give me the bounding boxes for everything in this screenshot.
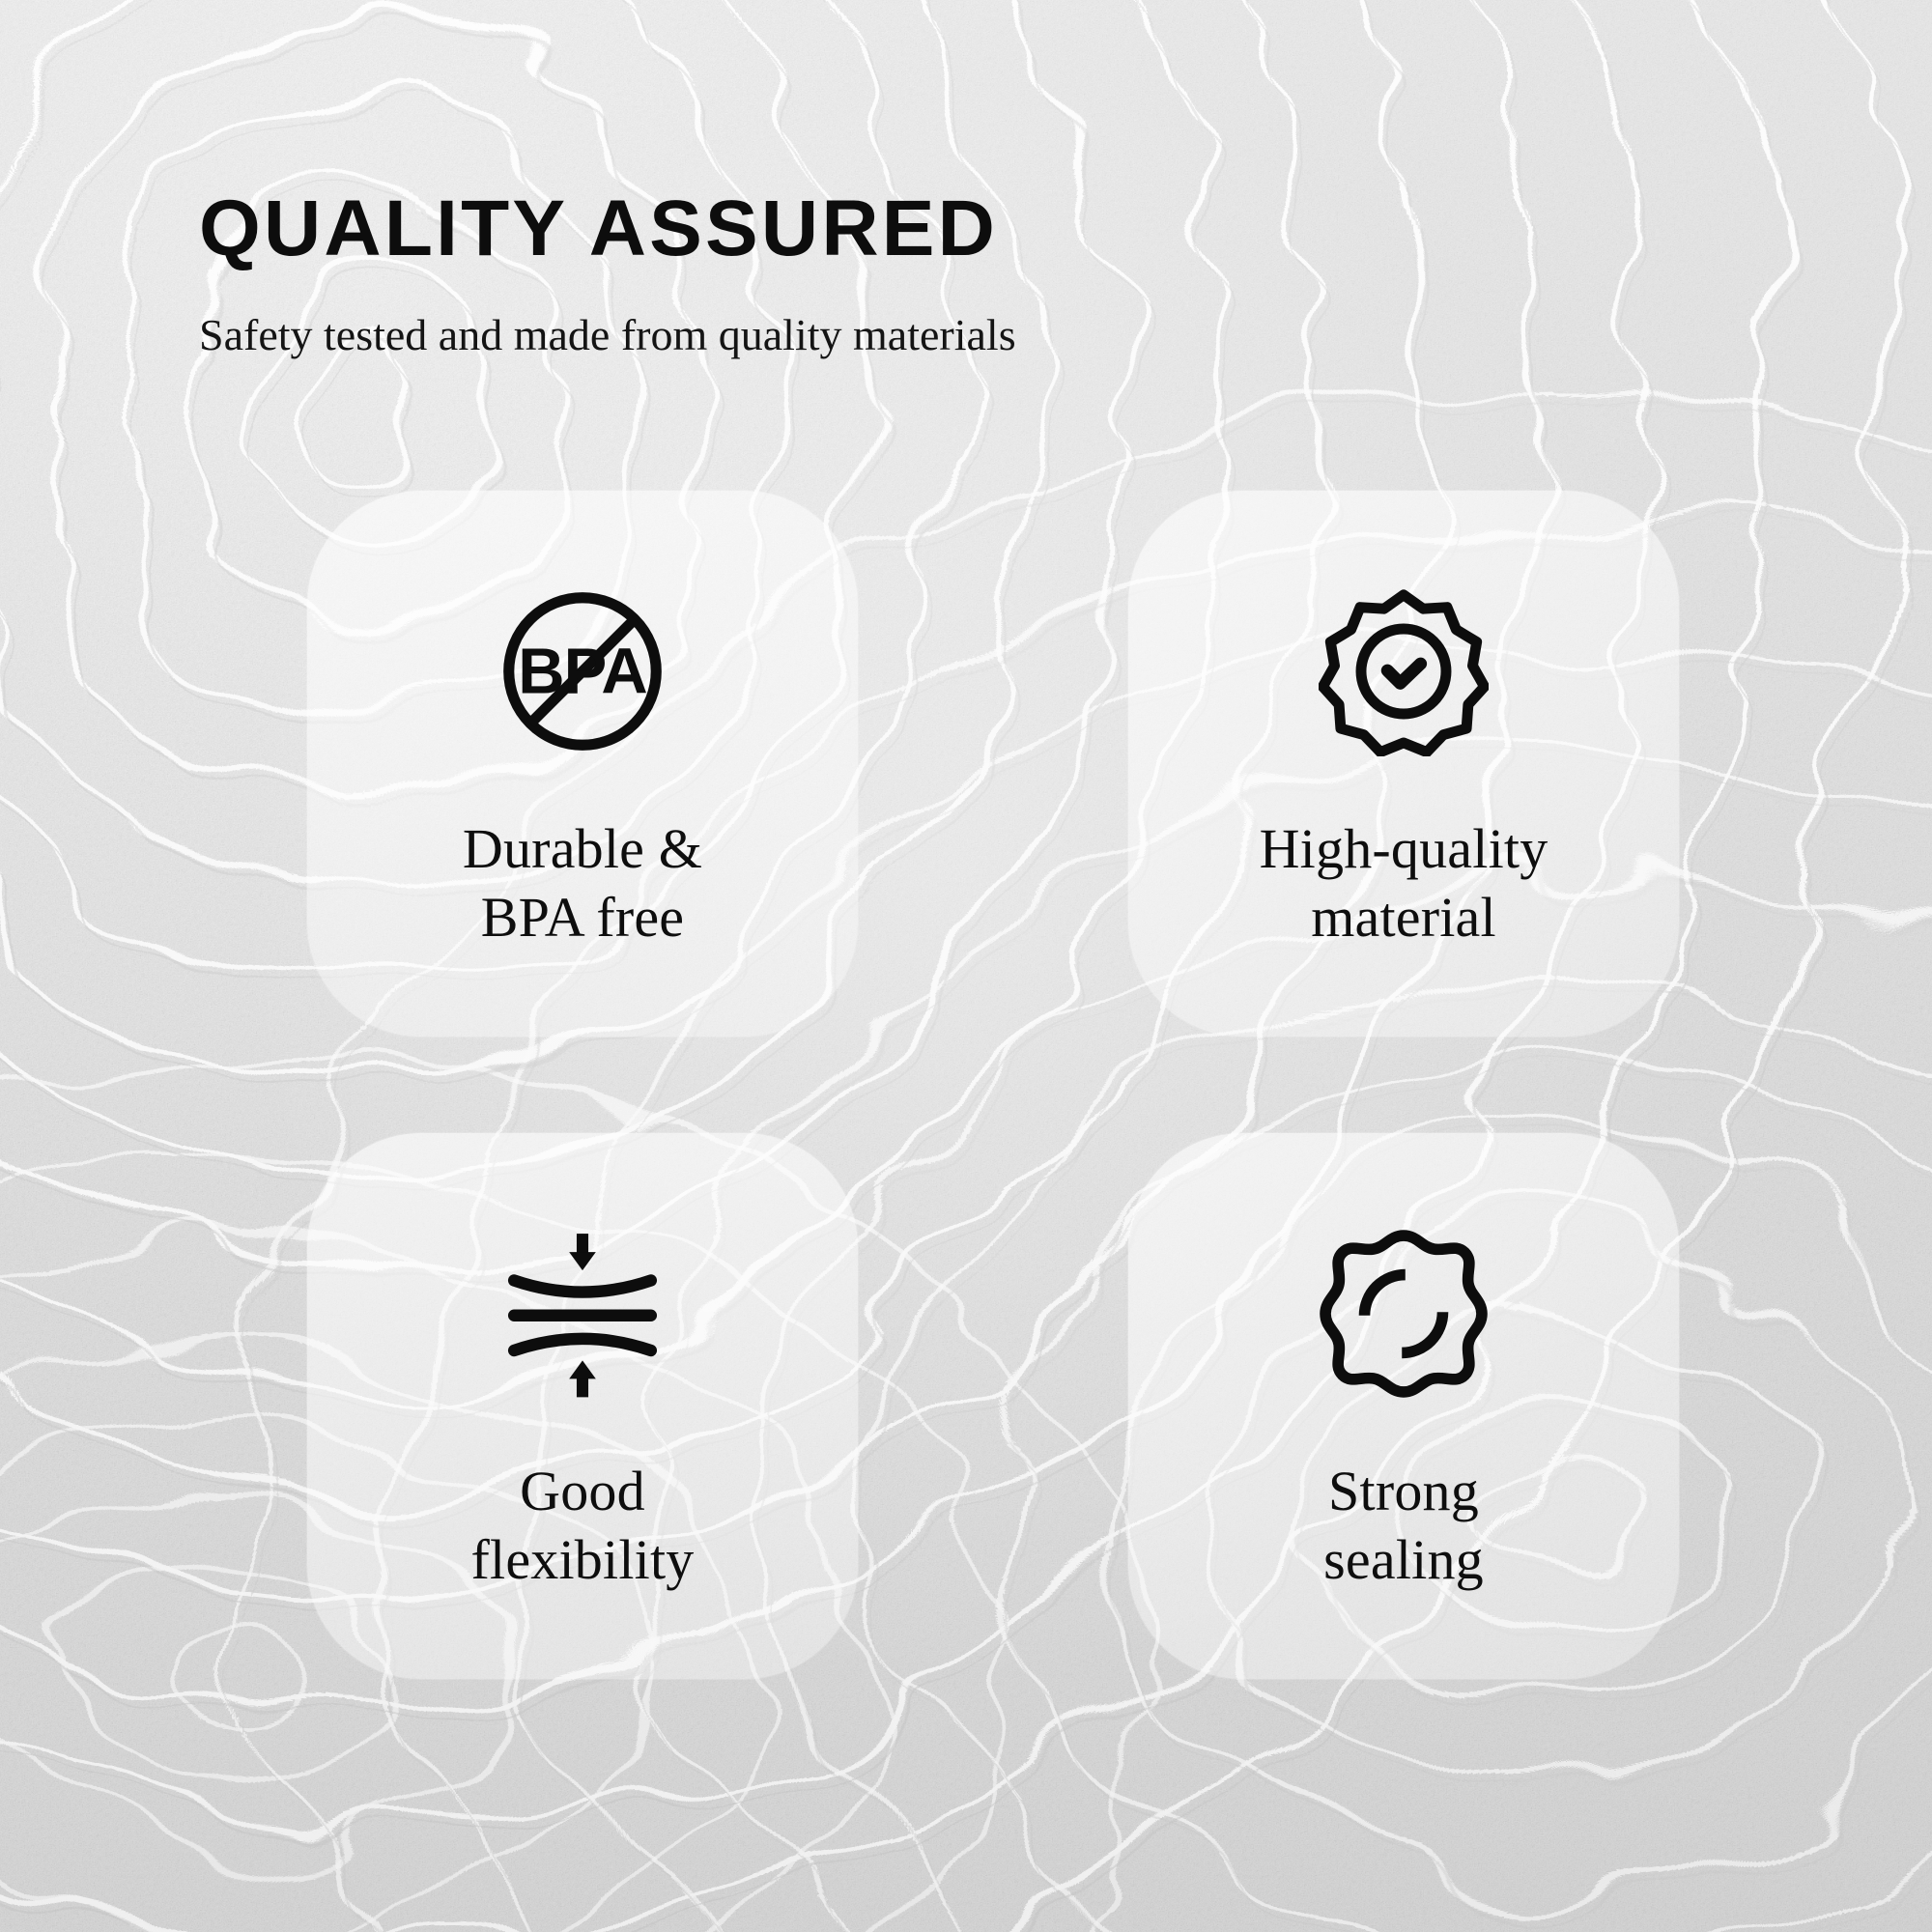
bpa-free-icon: BPA <box>491 580 674 763</box>
feature-card-label: High-quality material <box>1260 815 1548 952</box>
bpa-icon-text: BPA <box>518 636 647 708</box>
flexibility-compress-icon <box>491 1222 674 1406</box>
quality-badge-check-icon <box>1312 580 1495 763</box>
feature-card-durable-bpa-free[interactable]: BPA Durable & BPA free <box>307 491 858 1037</box>
page-title: QUALITY ASSURED <box>199 189 1648 269</box>
feature-card-label: Good flexibility <box>471 1458 695 1595</box>
feature-card-label: Strong sealing <box>1323 1458 1484 1595</box>
feature-card-label: Durable & BPA free <box>463 815 702 952</box>
feature-card-high-quality-material[interactable]: High-quality material <box>1128 491 1679 1037</box>
feature-card-good-flexibility[interactable]: Good flexibility <box>307 1133 858 1679</box>
strong-seal-icon <box>1312 1222 1495 1406</box>
page-subtitle: Safety tested and made from quality mate… <box>199 313 1648 357</box>
feature-card-grid: BPA Durable & BPA free High-quality mate… <box>307 491 1679 1679</box>
header: QUALITY ASSURED Safety tested and made f… <box>199 189 1648 357</box>
feature-card-strong-sealing[interactable]: Strong sealing <box>1128 1133 1679 1679</box>
quality-assured-poster: QUALITY ASSURED Safety tested and made f… <box>0 0 1932 1932</box>
